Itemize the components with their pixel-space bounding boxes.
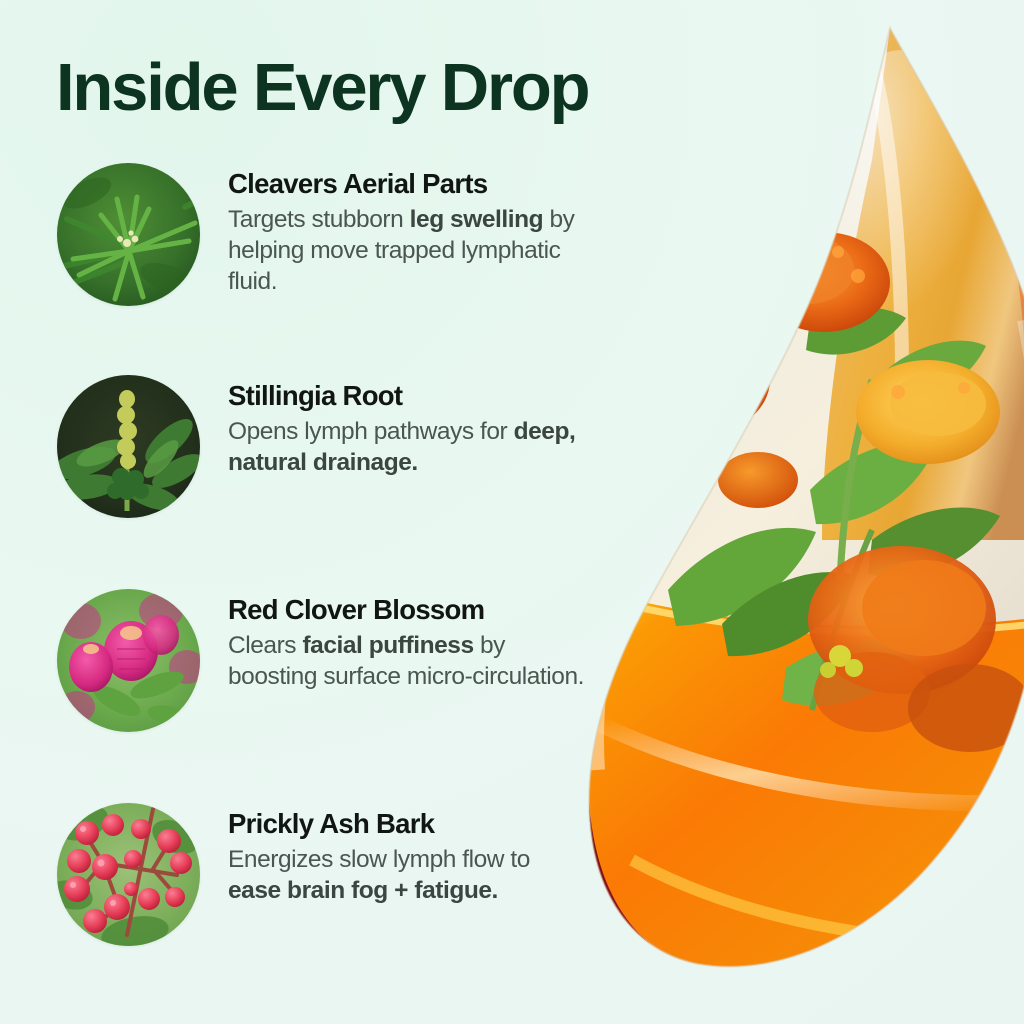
droplet-crimson-rim: [588, 780, 938, 973]
droplet-liquid-sheen: [592, 720, 1024, 803]
droplet-liquid-surface-highlight: [572, 586, 1024, 632]
list-item: Red Clover Blossom Clears facial puffine…: [57, 589, 617, 732]
droplet-flowers: [610, 232, 1024, 752]
herbal-tincture-droplet: [572, 20, 1024, 1024]
ingredient-name: Cleavers Aerial Parts: [228, 168, 588, 200]
prickly-ash-photo: [57, 803, 200, 946]
droplet-rim-shadow: [692, 876, 972, 996]
droplet-outline: [589, 28, 1024, 967]
ingredient-name: Red Clover Blossom: [228, 594, 588, 626]
ingredient-text: Prickly Ash Bark Energizes slow lymph fl…: [228, 803, 588, 906]
droplet-specular-line: [872, 60, 902, 380]
droplet-liquid-sheen-2: [632, 860, 1024, 943]
ingredient-text: Red Clover Blossom Clears facial puffine…: [228, 589, 588, 692]
page-title: Inside Every Drop: [56, 53, 588, 123]
ingredient-text: Stillingia Root Opens lymph pathways for…: [228, 375, 588, 478]
droplet-leaves: [668, 307, 1000, 710]
ingredient-description: Energizes slow lymph flow to ease brain …: [228, 844, 588, 907]
cleavers-plant-photo: [57, 163, 200, 306]
droplet-left-edge-sheen: [595, 60, 824, 770]
red-clover-photo: [57, 589, 200, 732]
ingredient-description: Clears facial puffiness by boosting surf…: [228, 630, 588, 693]
droplet-body: [572, 20, 1024, 1024]
droplet-edge-refraction: [1002, 170, 1024, 420]
droplet-glass-upper: [572, 20, 1024, 660]
droplet-amber-core: [822, 28, 1024, 540]
ingredient-name: Stillingia Root: [228, 380, 588, 412]
list-item: Prickly Ash Bark Energizes slow lymph fl…: [57, 803, 617, 946]
ingredient-name: Prickly Ash Bark: [228, 808, 588, 840]
ingredient-description: Targets stubborn leg swelling by helping…: [228, 204, 588, 298]
stillingia-plant-photo: [57, 375, 200, 518]
list-item: Stillingia Root Opens lymph pathways for…: [57, 375, 617, 518]
ingredient-description: Opens lymph pathways for deep, natural d…: [228, 416, 588, 479]
poster-canvas: Inside Every Drop: [0, 0, 1024, 1024]
droplet-liquid: [572, 580, 1024, 1024]
ingredient-text: Cleavers Aerial Parts Targets stubborn l…: [228, 163, 588, 298]
droplet-highlight: [807, 50, 997, 390]
list-item: Cleavers Aerial Parts Targets stubborn l…: [57, 163, 617, 306]
